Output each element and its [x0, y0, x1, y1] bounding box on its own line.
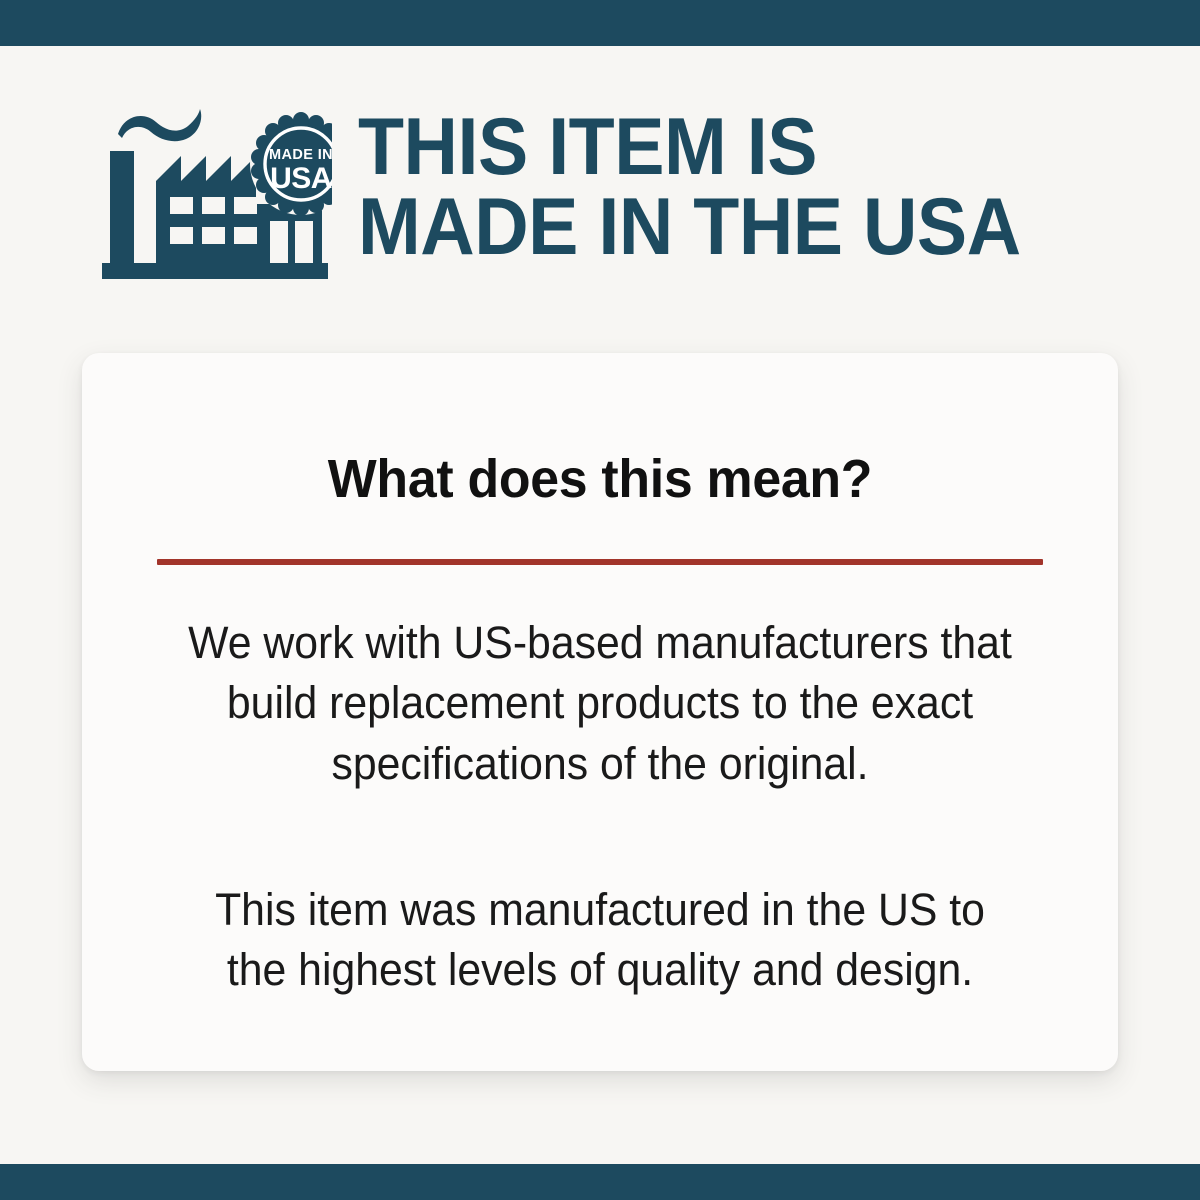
bottom-accent-bar — [0, 1164, 1200, 1200]
top-accent-bar — [0, 0, 1200, 46]
made-in-usa-badge-icon: MADE IN USA — [250, 112, 332, 216]
page-title: THIS ITEM IS MADE IN THE USA — [358, 101, 1160, 267]
badge-line-1: MADE IN — [269, 147, 332, 163]
badge-line-2: USA — [270, 162, 332, 195]
card-paragraph-2: This item was manufactured in the US to … — [182, 794, 1018, 1001]
card-paragraph-1: We work with US-based manufacturers that… — [182, 565, 1018, 794]
card-heading: What does this mean? — [103, 353, 1098, 510]
made-in-usa-banner: MADE IN USA THIS ITEM IS MADE IN THE USA… — [0, 0, 1200, 1200]
page-title-line-1: THIS ITEM IS — [358, 107, 1104, 187]
page-title-line-2: MADE IN THE USA — [358, 187, 1104, 267]
banner-content: MADE IN USA THIS ITEM IS MADE IN THE USA… — [0, 46, 1200, 1164]
banner-header: MADE IN USA THIS ITEM IS MADE IN THE USA — [100, 101, 1160, 291]
info-card: What does this mean? We work with US-bas… — [82, 353, 1118, 1071]
factory-icon: MADE IN USA — [100, 101, 332, 291]
